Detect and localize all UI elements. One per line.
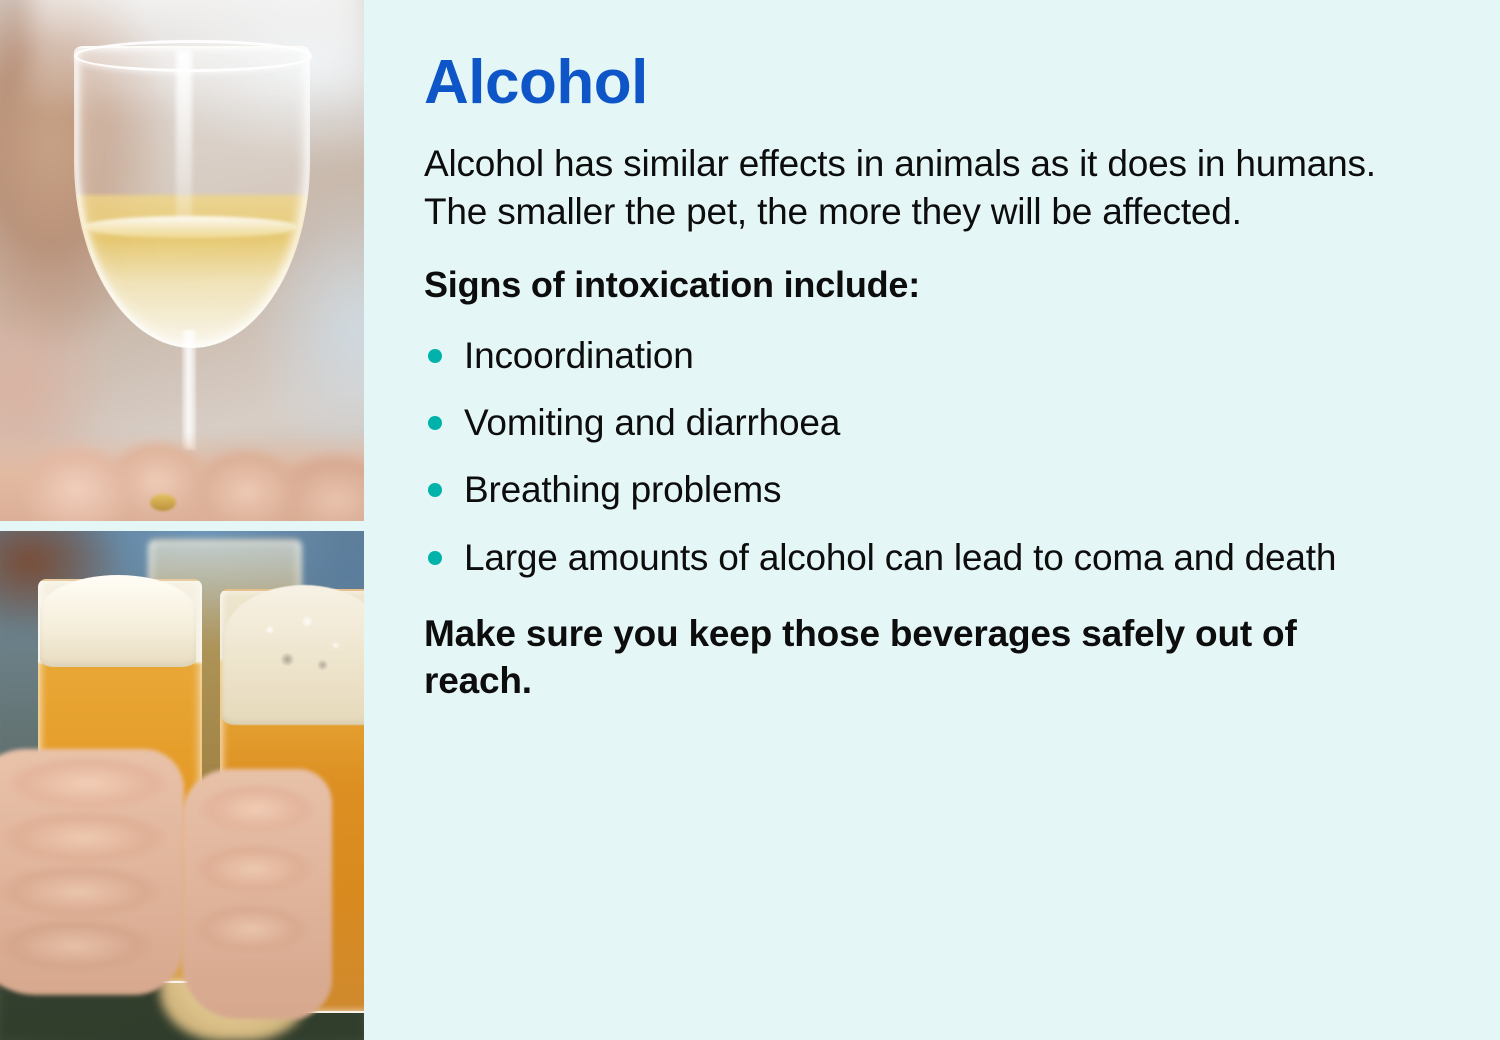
list-item-label: Vomiting and diarrhoea: [464, 402, 840, 443]
closing-statement: Make sure you keep those beverages safel…: [424, 610, 1324, 705]
intro-paragraph: Alcohol has similar effects in animals a…: [424, 140, 1384, 236]
finger-ring: [150, 494, 176, 511]
list-item: Vomiting and diarrhoea: [424, 400, 1364, 445]
beer-foam-left: [40, 575, 196, 667]
wine-glass-rim: [74, 40, 312, 72]
beer-bubbles-sparkle: [250, 609, 360, 679]
bullet-dot-icon: [428, 349, 442, 363]
photo-column: [0, 0, 364, 1040]
beer-holding-hand-left: [0, 749, 184, 995]
list-item: Breathing problems: [424, 467, 1364, 512]
alcohol-pet-safety-infographic: Alcohol Alcohol has similar effects in a…: [0, 0, 1500, 1040]
beer-holding-hand-right: [182, 769, 332, 1019]
page-title: Alcohol: [424, 52, 1440, 114]
bullet-dot-icon: [428, 551, 442, 565]
list-item-label: Incoordination: [464, 335, 694, 376]
list-item-label: Breathing problems: [464, 469, 781, 510]
bullet-dot-icon: [428, 483, 442, 497]
beer-glasses-toast-photo: [0, 531, 364, 1040]
signs-subheading: Signs of intoxication include:: [424, 262, 1440, 307]
list-item-label: Large amounts of alcohol can lead to com…: [464, 537, 1336, 578]
wine-glass-photo: [0, 0, 364, 521]
signs-bullet-list: Incoordination Vomiting and diarrhoea Br…: [424, 333, 1440, 580]
wine-glass-highlight: [176, 50, 192, 220]
wine-holding-hand: [0, 432, 364, 521]
bullet-dot-icon: [428, 416, 442, 430]
text-content-panel: Alcohol Alcohol has similar effects in a…: [364, 0, 1500, 1040]
beer-photo-canvas: [0, 531, 364, 1040]
photo-divider-gap: [0, 521, 364, 531]
wine-photo-canvas: [0, 0, 364, 521]
list-item: Incoordination: [424, 333, 1364, 378]
list-item: Large amounts of alcohol can lead to com…: [424, 535, 1364, 580]
